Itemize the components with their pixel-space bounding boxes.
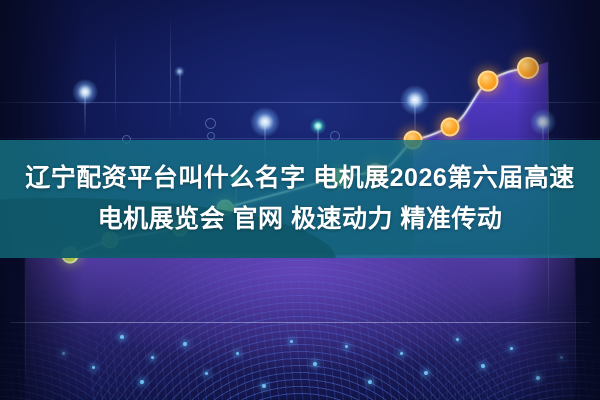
headline-line-2: 电机展览会 官网 极速动力 精准传动 (14, 199, 586, 240)
headline-line-1: 辽宁配资平台叫什么名字 电机展2026第六届高速 (14, 158, 586, 199)
banner-text-block: 辽宁配资平台叫什么名字 电机展2026第六届高速 电机展览会 官网 极速动力 精… (0, 158, 600, 240)
promo-banner-image: 辽宁配资平台叫什么名字 电机展2026第六届高速 电机展览会 官网 极速动力 精… (0, 0, 600, 400)
headline-banner: 辽宁配资平台叫什么名字 电机展2026第六届高速 电机展览会 官网 极速动力 精… (0, 140, 600, 258)
